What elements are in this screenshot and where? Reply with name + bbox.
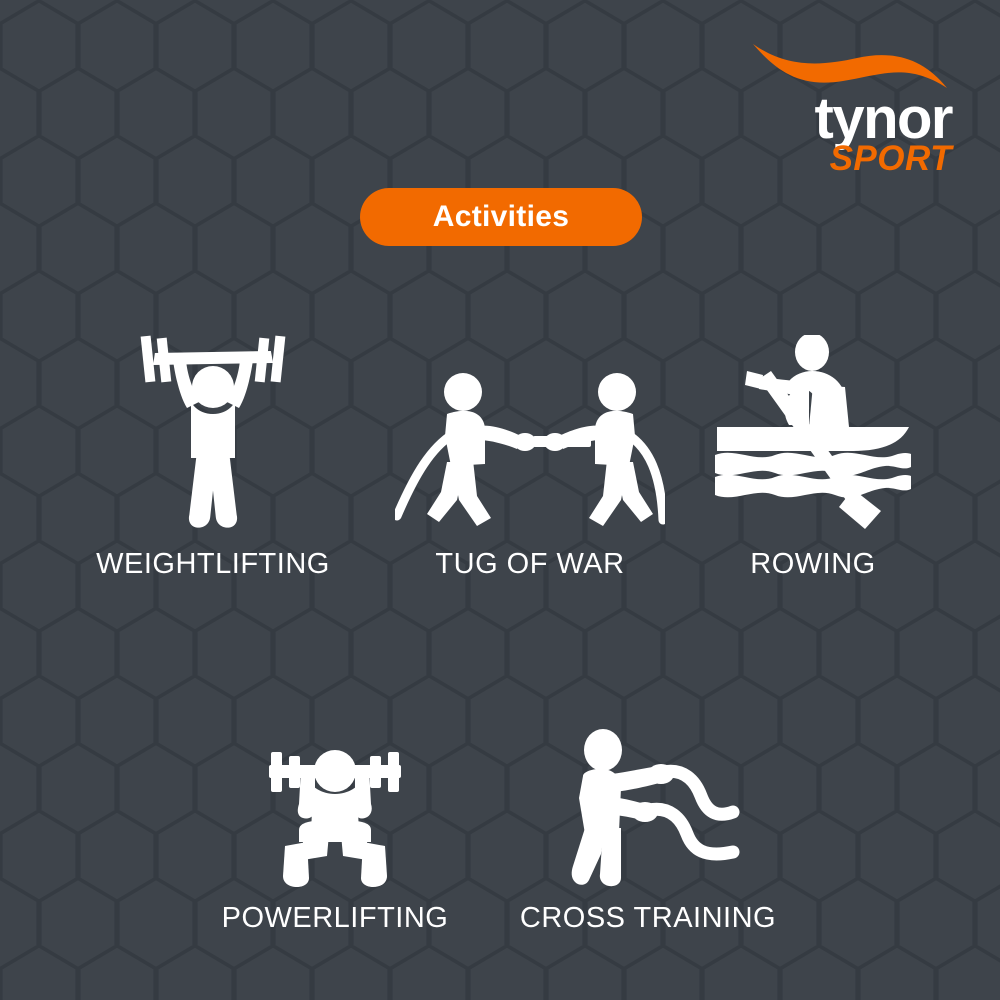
brand-wordmark: tynor (732, 92, 952, 145)
activity-item-tug-of-war: TUG OF WAR (390, 330, 670, 581)
activity-label-tug-of-war: TUG OF WAR (435, 548, 624, 581)
activity-label-weightlifting: WEIGHTLIFTING (96, 548, 330, 581)
brand-logo: tynor SPORT (732, 40, 952, 176)
weightlifting-icon-wrap (129, 330, 297, 530)
powerlifting-icon (255, 738, 415, 888)
activity-item-rowing: ROWING (690, 330, 936, 581)
cross-training-icon (553, 728, 743, 888)
brand-submark: SPORT (732, 141, 952, 176)
activity-item-powerlifting: POWERLIFTING (185, 688, 485, 935)
activities-badge-label: Activities (433, 200, 569, 234)
activities-poster: tynor SPORT Activities (0, 0, 1000, 1000)
activity-item-weightlifting: WEIGHTLIFTING (0, 330, 426, 581)
cross-training-icon-wrap (553, 688, 743, 888)
activity-label-cross-training: CROSS TRAINING (520, 902, 776, 935)
tug-of-war-icon-wrap (395, 330, 665, 530)
activity-item-cross-training: CROSS TRAINING (490, 688, 806, 935)
weightlifting-icon (129, 330, 297, 530)
powerlifting-icon-wrap (255, 688, 415, 888)
rowing-icon-wrap (713, 330, 913, 530)
tug-of-war-icon (395, 370, 665, 530)
activity-label-powerlifting: POWERLIFTING (222, 902, 449, 935)
activities-badge: Activities (360, 188, 642, 246)
rowing-icon (713, 335, 913, 530)
activity-label-rowing: ROWING (750, 548, 875, 581)
